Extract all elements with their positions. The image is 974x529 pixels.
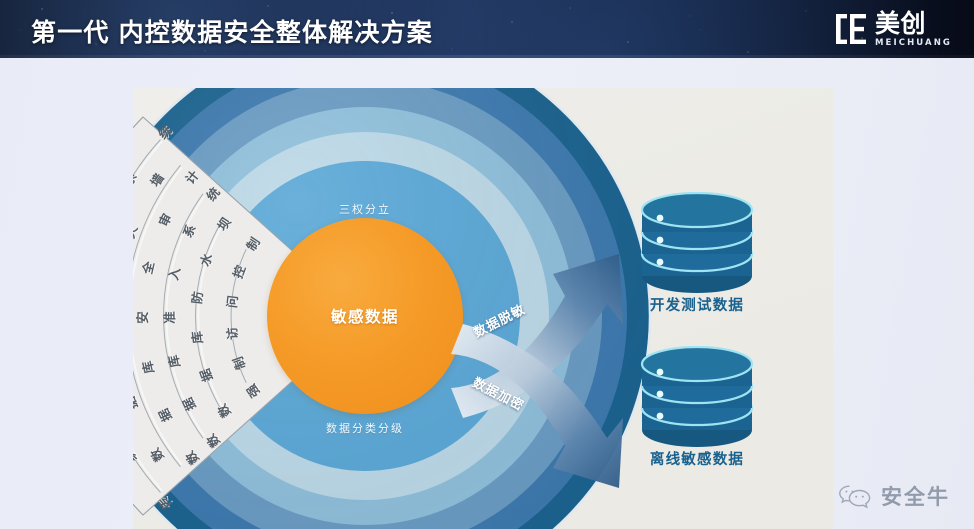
fan-label-char: 计 — [180, 166, 203, 188]
fan-label-char: 数 — [180, 448, 203, 470]
fan-label-char: 统 — [201, 182, 224, 204]
fan-label-char: 库 — [136, 360, 157, 376]
fan-label-char: 火 — [133, 222, 141, 240]
flow-1-target-label: 离线敏感数据 — [650, 448, 744, 469]
logo-name-en: MEICHUANG — [875, 39, 952, 48]
fan-label-char: 库 — [186, 330, 206, 345]
fan-label-char: 据 — [153, 406, 176, 426]
fan-label-char: 控 — [227, 262, 249, 280]
fan-label-char: 据 — [133, 394, 141, 412]
title-generation: 第一代 — [31, 18, 110, 47]
fan-label-char: 据 — [194, 367, 216, 385]
slide-header-bar: 第一代内控数据安全整体解决方案 美创 MEICHUANG — [0, 0, 974, 58]
meichuang-square-mark-icon — [834, 12, 868, 46]
fan-label-char: 制 — [227, 355, 249, 373]
fan-label-char: 统 — [133, 447, 141, 467]
fan-label-char: 全 — [136, 259, 157, 275]
logo-name-cn: 美创 — [875, 11, 952, 36]
watermark-text: 安全牛 — [881, 481, 950, 511]
diagram-panel: 三权分立 数据分类分级 敏感数据 传统边界控制系统数据库防火墙数据库安全审计数据… — [133, 88, 833, 529]
fan-label-char: 墙 — [145, 169, 168, 190]
wechat-bubble-icon — [838, 483, 872, 509]
fan-label-char: 问 — [221, 294, 241, 309]
fan-label-char: 库 — [162, 354, 183, 370]
slide-canvas: 第一代内控数据安全整体解决方案 美创 MEICHUANG — [0, 0, 974, 529]
fan-label-char: 安 — [133, 311, 151, 324]
flow-0-database-icon[interactable] — [633, 192, 761, 304]
fan-label-char: 准 — [158, 311, 177, 324]
watermark: 安全牛 — [838, 481, 950, 511]
title-main: 内控数据安全整体解决方案 — [119, 18, 433, 47]
fan-label-char: 数 — [212, 401, 235, 422]
brand-logo: 美创 MEICHUANG — [834, 7, 952, 51]
flow-0-target-label: 开发测试数据 — [650, 294, 744, 315]
fan-label-char: 入 — [162, 265, 183, 281]
fan-label-char: 审 — [153, 209, 176, 229]
fan-label-char: 数 — [145, 445, 168, 466]
fan-label-char: 制 — [241, 233, 264, 254]
flow-1-database-icon[interactable] — [633, 346, 761, 458]
fan-label-char: 访 — [221, 326, 241, 341]
fan-label-char: 系 — [133, 168, 141, 188]
fan-label-char: 防 — [186, 290, 206, 305]
page-title: 第一代内控数据安全整体解决方案 — [31, 13, 433, 49]
fan-label-char: 统 — [153, 120, 175, 142]
fan-label-char: 据 — [177, 394, 200, 414]
fan-label-char: 传 — [153, 493, 175, 515]
fan-label-char: 水 — [194, 250, 216, 268]
logo-text-block: 美创 MEICHUANG — [875, 11, 952, 48]
fan-label-char: 数 — [201, 431, 224, 453]
fan-label-char: 强 — [241, 381, 264, 402]
fan-label-char: 坝 — [212, 213, 235, 234]
fan-label-char: 系 — [177, 221, 200, 241]
